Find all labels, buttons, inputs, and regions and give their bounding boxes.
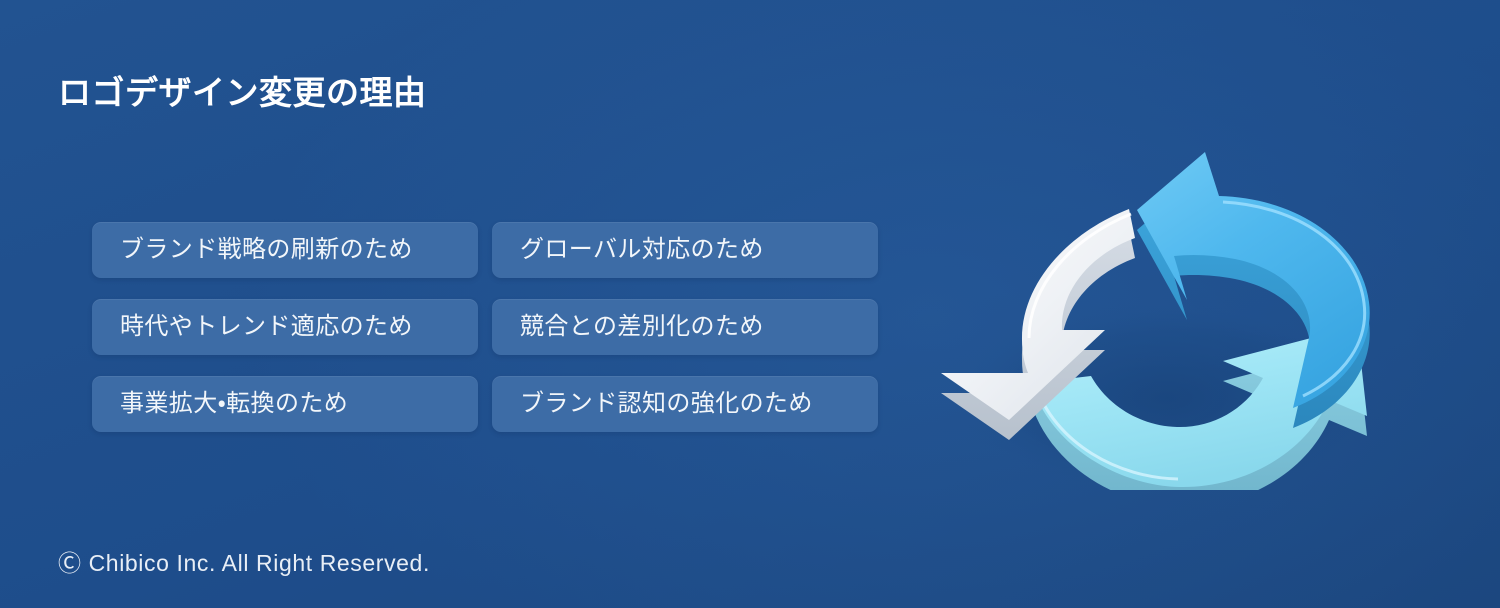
reason-card[interactable]: 事業拡大・転換のため [92, 376, 478, 432]
reason-card[interactable]: 競合との差別化のため [492, 299, 878, 355]
page-title: ロゴデザイン変更の理由 [58, 72, 427, 113]
reason-card[interactable]: ブランド認知の強化のため [492, 376, 878, 432]
reason-card[interactable]: グローバル対応のため [492, 222, 878, 278]
cycle-arrows-graphic [905, 130, 1425, 490]
reason-card-label: ブランド認知の強化のため [492, 392, 827, 416]
reason-card[interactable]: ブランド戦略の刷新のため [92, 222, 478, 278]
reason-card-label: 時代やトレンド適応のため [92, 315, 427, 339]
slide-root: ロゴデザイン変更の理由 ブランド戦略の刷新のため グローバル対応のため 時代やト… [0, 0, 1500, 608]
reason-card-grid: ブランド戦略の刷新のため グローバル対応のため 時代やトレンド適応のため 競合と… [92, 222, 878, 432]
footer-copyright: Ⓒ Chibico Inc. All Right Reserved. [58, 544, 430, 578]
reason-card-label: 事業拡大・転換のため [92, 392, 362, 416]
reason-card-label: ブランド戦略の刷新のため [92, 238, 427, 262]
reason-card-label: 競合との差別化のため [492, 315, 778, 339]
reason-card[interactable]: 時代やトレンド適応のため [92, 299, 478, 355]
reason-card-label: グローバル対応のため [492, 238, 778, 262]
